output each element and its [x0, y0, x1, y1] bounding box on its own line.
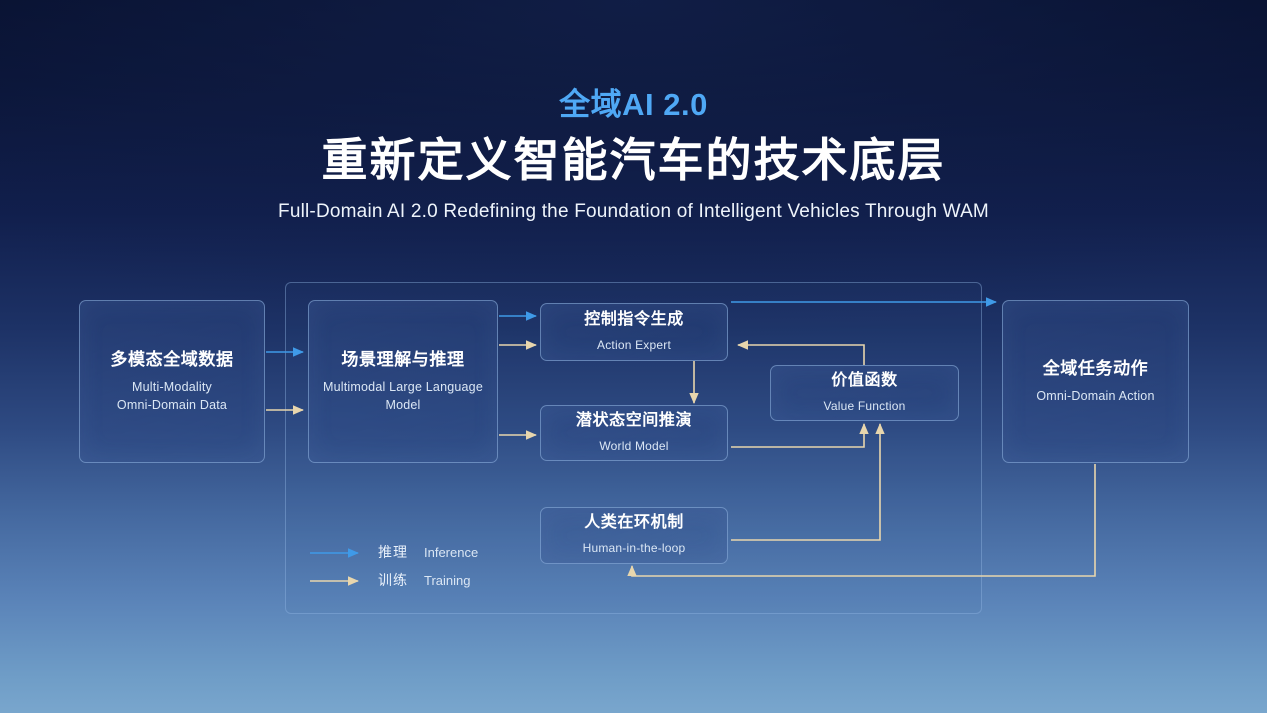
node-human-in-the-loop[interactable]: 人类在环机制 Human-in-the-loop: [540, 507, 728, 564]
node-mllm-subtitle-line1: Multimodal Large Language: [323, 380, 483, 394]
node-human-in-the-loop-subtitle: Human-in-the-loop: [583, 540, 686, 557]
legend-training-label-cn: 训练: [378, 570, 408, 590]
node-multimodal-data-subtitle: Multi-Modality Omni-Domain Data: [117, 378, 227, 414]
node-mllm-subtitle: Multimodal Large Language Model: [323, 378, 483, 414]
node-value-function-title: 价值函数: [831, 371, 897, 391]
node-world-model-title: 潜状态空间推演: [576, 411, 692, 431]
node-mllm[interactable]: 场景理解与推理 Multimodal Large Language Model: [308, 300, 498, 463]
node-world-model[interactable]: 潜状态空间推演 World Model: [540, 405, 728, 461]
node-omni-domain-action-subtitle: Omni-Domain Action: [1036, 387, 1154, 405]
node-multimodal-data[interactable]: 多模态全域数据 Multi-Modality Omni-Domain Data: [79, 300, 265, 463]
node-omni-domain-action[interactable]: 全域任务动作 Omni-Domain Action: [1002, 300, 1189, 463]
node-multimodal-data-subtitle-line1: Multi-Modality: [132, 380, 212, 394]
architecture-diagram: 多模态全域数据 Multi-Modality Omni-Domain Data …: [0, 0, 1267, 713]
legend-inference-label-en: Inference: [424, 545, 478, 560]
diagram-legend: 推理 Inference 训练 Training: [310, 538, 478, 594]
node-human-in-the-loop-title: 人类在环机制: [584, 513, 684, 533]
legend-item-inference: 推理 Inference: [310, 538, 478, 566]
inference-arrow-icon: [310, 546, 366, 558]
node-action-expert[interactable]: 控制指令生成 Action Expert: [540, 303, 728, 361]
node-multimodal-data-subtitle-line2: Omni-Domain Data: [117, 398, 227, 412]
legend-item-training: 训练 Training: [310, 566, 478, 594]
node-mllm-subtitle-line2: Model: [385, 398, 420, 412]
legend-inference-label-cn: 推理: [378, 542, 408, 562]
node-mllm-title: 场景理解与推理: [341, 349, 464, 370]
training-arrow-icon: [310, 574, 366, 586]
node-value-function-subtitle: Value Function: [824, 398, 906, 415]
node-omni-domain-action-title: 全域任务动作: [1043, 358, 1149, 379]
node-world-model-subtitle: World Model: [599, 438, 668, 455]
node-action-expert-subtitle: Action Expert: [597, 337, 671, 354]
node-value-function[interactable]: 价值函数 Value Function: [770, 365, 959, 421]
node-action-expert-title: 控制指令生成: [584, 310, 684, 330]
node-multimodal-data-title: 多模态全域数据: [110, 349, 233, 370]
legend-training-label-en: Training: [424, 573, 470, 588]
